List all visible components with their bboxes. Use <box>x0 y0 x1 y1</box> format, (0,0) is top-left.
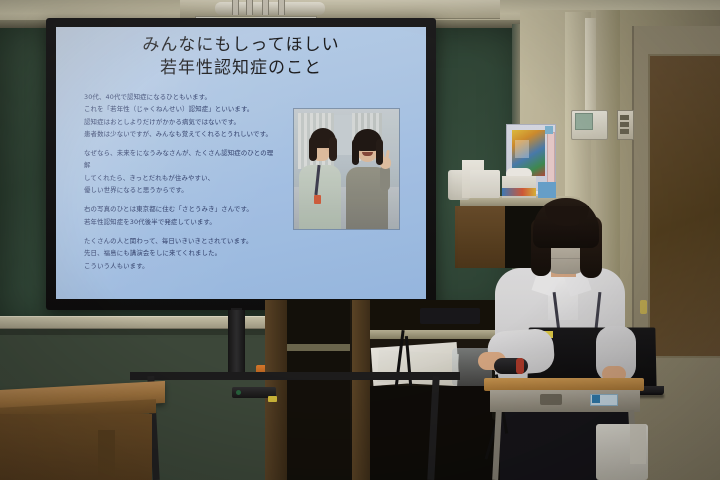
cabinet-post <box>352 300 370 480</box>
scattered-papers <box>377 350 459 386</box>
classroom-photo-scene: 9 みんなにもしってほしい 若年性認知症のこと 30代、40代で認知症になるひと… <box>0 0 720 480</box>
ac-panel-screen <box>575 113 593 130</box>
mouse-red-accent <box>516 358 524 374</box>
blue-box <box>538 182 556 198</box>
pipe-ring-icon <box>262 0 269 15</box>
desk-label-mark <box>592 395 600 403</box>
cabinet-equipment <box>420 308 480 324</box>
desk-handle <box>540 394 562 405</box>
light-switch-button[interactable] <box>620 115 629 120</box>
door-wood-panel <box>648 54 720 358</box>
teacher-desk-body <box>0 414 152 480</box>
display-stand-neck <box>228 310 245 376</box>
storage-box <box>470 170 500 198</box>
screen-glare <box>56 27 426 299</box>
pipe-ring-icon <box>232 0 239 15</box>
display-cart-bar <box>130 372 460 380</box>
cabinet-shelf <box>368 330 508 339</box>
remote-button[interactable] <box>236 390 241 395</box>
pipe-ring-icon <box>278 0 285 15</box>
door-knob[interactable] <box>640 300 647 314</box>
remote-tag <box>268 396 277 402</box>
calendar-tab <box>545 126 553 134</box>
cabinet-door[interactable] <box>455 206 505 268</box>
conduit-pipe <box>585 18 596 113</box>
display-screen[interactable]: みんなにもしってほしい 若年性認知症のこと 30代、40代で認知症になるひともい… <box>56 27 426 299</box>
background-shadow <box>287 300 353 480</box>
tissue-box-band <box>502 188 536 196</box>
background-ledge <box>287 344 353 351</box>
teacher-desk-leg <box>98 430 115 480</box>
light-switch-button[interactable] <box>620 122 629 127</box>
light-switch-button[interactable] <box>620 129 629 134</box>
bin-cloth <box>630 424 646 464</box>
pipe-ring-icon <box>246 0 253 15</box>
calendar-photo-detail <box>515 140 529 158</box>
